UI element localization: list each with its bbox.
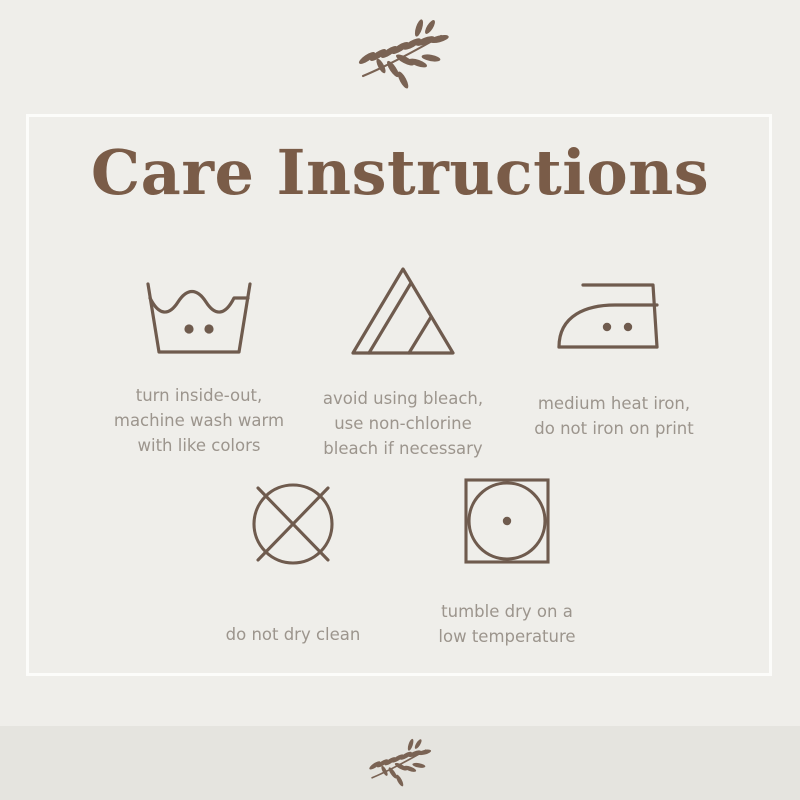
care-symbol-wash: turn inside-out, machine wash warm with … xyxy=(96,272,302,458)
iron-icon xyxy=(508,277,720,362)
care-symbol-caption: tumble dry on a low temperature xyxy=(409,599,605,649)
care-instructions-card: Care Instructions turn inside-out, machi… xyxy=(0,0,800,800)
care-symbol-caption: do not dry clean xyxy=(195,622,391,647)
botanical-sprig-icon-bottom xyxy=(357,735,445,793)
bleach-triangle-icon xyxy=(300,263,506,364)
care-symbol-bleach: avoid using bleach, use non-chlorine ble… xyxy=(300,263,506,461)
do-not-dry-clean-icon xyxy=(195,476,391,577)
wash-tub-icon xyxy=(96,272,302,363)
care-symbol-caption: avoid using bleach, use non-chlorine ble… xyxy=(300,386,506,461)
care-symbol-caption: medium heat iron, do not iron on print xyxy=(508,391,720,441)
tumble-dry-low-icon xyxy=(409,476,605,571)
care-symbol-iron: medium heat iron, do not iron on print xyxy=(508,277,720,441)
botanical-sprig-icon-top xyxy=(341,14,469,98)
care-symbol-caption: turn inside-out, machine wash warm with … xyxy=(96,383,302,458)
care-symbol-dry-clean: do not dry clean xyxy=(195,476,391,647)
care-symbol-tumble-dry: tumble dry on a low temperature xyxy=(409,476,605,649)
page-title: Care Instructions xyxy=(0,139,800,207)
